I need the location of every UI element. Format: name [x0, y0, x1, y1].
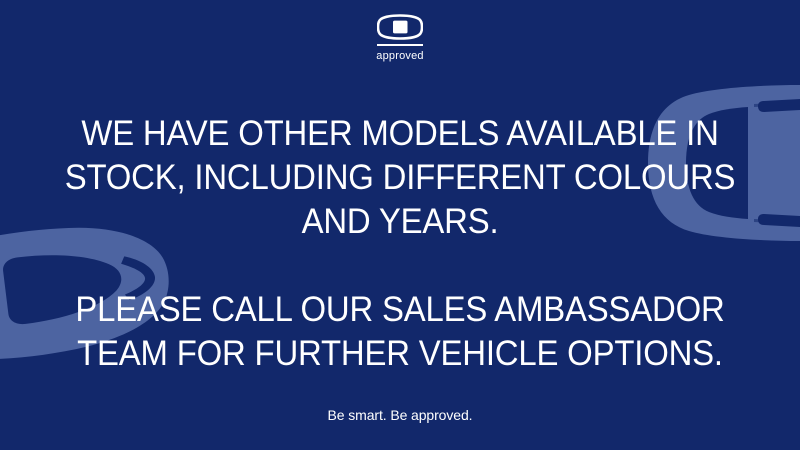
- message-block: WE HAVE OTHER MODELS AVAILABLE IN STOCK,…: [0, 112, 800, 424]
- brand-divider: [377, 44, 423, 46]
- headline-secondary: PLEASE CALL OUR SALES AMBASSADOR TEAM FO…: [48, 288, 751, 376]
- brand-lockup: approved: [0, 14, 800, 63]
- headline-primary: WE HAVE OTHER MODELS AVAILABLE IN STOCK,…: [48, 112, 751, 244]
- brand-word: approved: [376, 49, 423, 63]
- tagline: Be smart. Be approved.: [26, 406, 774, 424]
- promo-slide: approved WE HAVE OTHER MODELS AVAILABLE …: [0, 0, 800, 450]
- car-top-view-icon: [377, 14, 423, 40]
